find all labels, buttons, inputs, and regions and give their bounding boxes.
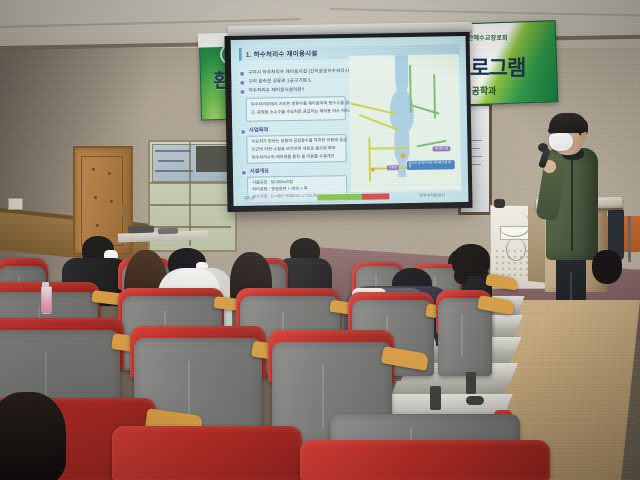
slide-progress-bar: [317, 193, 389, 200]
audience-shoe: [466, 396, 484, 405]
door-stud: [92, 168, 95, 171]
slide-bullet-line: 하수처리수 재이용시설이란?: [248, 87, 304, 94]
cable: [506, 238, 526, 261]
map-marker-icon: [401, 153, 406, 158]
door-stud: [94, 196, 97, 199]
section-item: 시설규모 : 50,000㎥/일: [252, 179, 293, 186]
door-panel: [81, 156, 123, 246]
hair-tie-bun: [454, 268, 468, 284]
cabinet-sign-line: [155, 150, 191, 152]
slide-section-heading: 시설개요: [250, 167, 269, 174]
green-route: [433, 75, 435, 119]
seat-cushion[interactable]: [112, 426, 302, 480]
table-item: [158, 228, 178, 235]
door-stud: [110, 200, 113, 203]
door-stud: [96, 224, 99, 227]
road-line: [350, 102, 395, 114]
bullet-icon: [240, 72, 244, 76]
door-handle[interactable]: [122, 205, 128, 217]
door-stud: [108, 172, 111, 175]
bullet-icon: [240, 81, 244, 85]
slide-title: 1. 하수처리수 재이용시설: [246, 48, 318, 59]
jacket-zipper: [571, 155, 573, 251]
console-knob[interactable]: [494, 199, 505, 208]
slide-footer-right-logo: 한국수자원공사: [419, 192, 445, 198]
slide-bullet-line: 구리시 하수처리수 재이용시설 (간이공공하수처리시설): [248, 68, 355, 76]
cable: [498, 212, 531, 237]
slide-section-heading: 사업목적: [249, 126, 268, 133]
bullet-icon: [241, 130, 245, 134]
microphone-head-icon: [538, 143, 548, 152]
map-tag: 재이용시설: [432, 146, 450, 152]
seat-cushion[interactable]: [300, 440, 550, 480]
audience-water-bottle[interactable]: [41, 286, 52, 314]
slide-bullet-line: 구리 왕숙천 상류로 1공구기점 5: [248, 78, 311, 85]
map-tag: 가압장: [387, 165, 399, 171]
map-marker-icon: [371, 168, 375, 172]
seat-leg: [430, 386, 441, 410]
cabinet-sign-line: [155, 170, 193, 172]
table-item: [128, 226, 154, 234]
slide-map: 재이용시설 가압장 취수장 및 하수처리 재이용시설 계획: [349, 54, 461, 192]
cabinet-sign-line: [158, 160, 184, 162]
map-tag: 취수장 및 하수처리 재이용시설 계획: [407, 160, 455, 169]
bottle-cap: [42, 282, 49, 287]
auditorium-photo: 환 대한예수교장로회 프로그램 환경공학과 1. 하수처리수 재이용시설 구리시…: [0, 0, 640, 480]
seat-leg: [466, 372, 476, 394]
bullet-icon: [240, 90, 244, 94]
rail-post: [628, 216, 631, 262]
road-line: [368, 138, 370, 182]
cabinet-dark-pane: [196, 146, 228, 172]
foreground-audience-hair: [0, 392, 66, 480]
wall-outlet[interactable]: [8, 198, 23, 210]
audience-hair: [592, 250, 622, 284]
face-mask: [549, 133, 573, 151]
projection-screen: 1. 하수처리수 재이용시설 구리시 하수처리수 재이용시설 (간이공공하수처리…: [231, 36, 469, 206]
bullet-icon: [242, 171, 246, 175]
slide-footer-left-logo: 구리시: [243, 196, 254, 202]
